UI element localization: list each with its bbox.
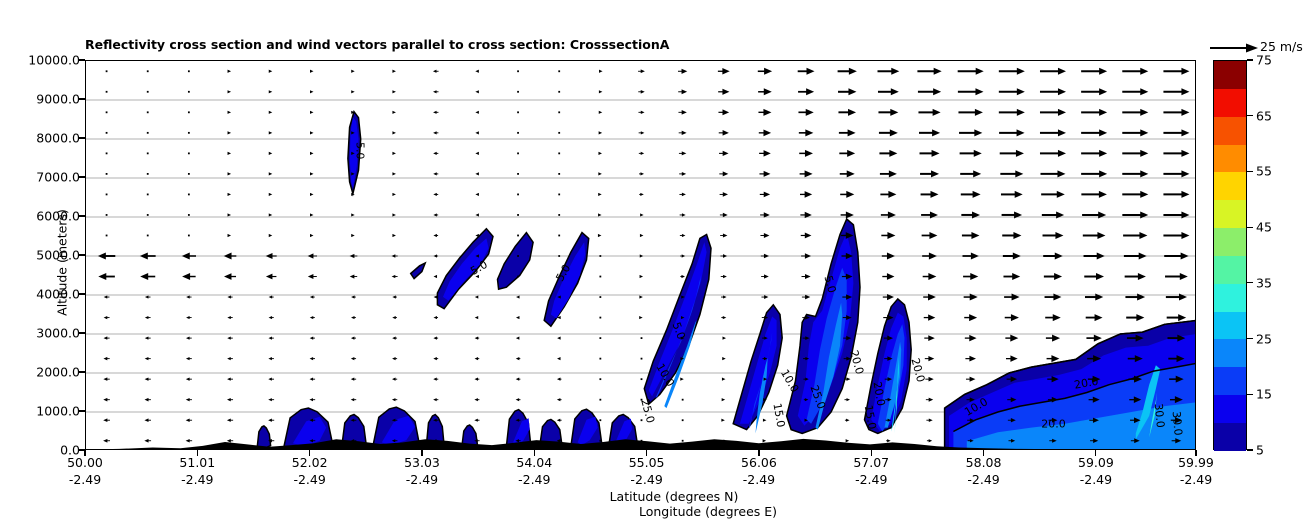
- wind-vector-arrow: [759, 150, 771, 156]
- wind-vector-arrow: [475, 316, 479, 319]
- wind-vector-arrow: [228, 213, 232, 216]
- wind-vector-arrow: [721, 316, 726, 319]
- wind-vector-arrow: [351, 70, 355, 73]
- wind-vector-arrow: [433, 111, 438, 114]
- wind-vector-arrow: [558, 132, 560, 134]
- wind-vector-arrow: [958, 88, 984, 95]
- wind-vector-arrow: [145, 357, 151, 360]
- y-tick-mark: [79, 137, 85, 138]
- wind-vector-arrow: [351, 316, 356, 319]
- wind-vector-arrow: [1003, 253, 1021, 260]
- wind-vector-arrow: [147, 132, 149, 134]
- field-polygon: [498, 233, 534, 290]
- wind-vector-arrow: [517, 173, 519, 175]
- wind-vector-arrow: [517, 111, 519, 113]
- wind-vector-arrow: [517, 214, 519, 216]
- wind-vector-arrow: [516, 337, 520, 340]
- wind-vector-arrow: [228, 172, 232, 175]
- wind-vector-arrow: [188, 111, 190, 113]
- wind-vector-arrow: [557, 398, 562, 401]
- wind-vector-arrow: [147, 152, 149, 154]
- colorbar-tick-label: 25: [1256, 331, 1272, 346]
- wind-vector-arrow: [1046, 335, 1060, 342]
- wind-vector-arrow: [598, 193, 602, 196]
- wind-vector-arrow: [1122, 68, 1148, 75]
- wind-vector-arrow: [761, 295, 768, 299]
- wind-vector-arrow: [227, 295, 232, 298]
- wind-vector-arrow: [98, 253, 115, 260]
- wind-vector-arrow: [679, 172, 686, 176]
- wind-vector-arrow: [1003, 273, 1020, 280]
- wind-vector-arrow: [106, 132, 108, 134]
- wind-vector-arrow: [106, 194, 108, 196]
- wind-vector-arrow: [1081, 68, 1107, 75]
- wind-vector-arrow: [188, 173, 190, 175]
- wind-vector-arrow: [1086, 335, 1101, 342]
- wind-vector-arrow: [351, 398, 357, 401]
- wind-vector-arrow: [188, 194, 190, 196]
- wind-vector-arrow: [182, 253, 196, 260]
- wind-vector-arrow: [186, 357, 192, 360]
- wind-vector-arrow: [310, 152, 314, 155]
- wind-vector-arrow: [924, 314, 936, 320]
- x-tick-label: 54.04 -2.49: [516, 455, 552, 488]
- wind-vector-arrow: [599, 276, 601, 278]
- wind-vector-arrow: [1163, 150, 1189, 157]
- wind-vector-arrow: [1043, 232, 1064, 239]
- wind-vector-arrow: [878, 88, 899, 95]
- wind-vector-arrow: [392, 234, 396, 237]
- wind-vector-arrow: [558, 276, 560, 278]
- wind-vector-arrow: [475, 337, 480, 340]
- wind-vector-arrow: [880, 170, 897, 177]
- wind-vector-arrow: [641, 378, 643, 380]
- wind-vector-arrow: [719, 151, 729, 156]
- wind-vector-arrow: [599, 255, 601, 257]
- wind-vector-arrow: [228, 193, 232, 196]
- wind-vector-arrow: [1125, 273, 1146, 280]
- wind-vector-arrow: [1167, 314, 1186, 321]
- y-tick-label: 8000.0: [36, 131, 80, 146]
- wind-vector-arrow: [838, 109, 856, 116]
- wind-vector-arrow: [433, 316, 438, 319]
- wind-vector-arrow: [718, 68, 730, 75]
- x-tick-mark: [1195, 450, 1196, 456]
- wind-vector-arrow: [1040, 129, 1066, 136]
- wind-vector-arrow: [959, 129, 982, 136]
- wind-vector-arrow: [759, 129, 771, 136]
- wind-vector-arrow: [599, 419, 601, 421]
- wind-vector-arrow: [839, 150, 855, 157]
- wind-vector-arrow: [475, 152, 479, 155]
- wind-vector-arrow: [517, 194, 519, 196]
- wind-vector-arrow: [98, 273, 115, 280]
- wind-vector-arrow: [310, 316, 315, 319]
- contour-label: 30.0: [1170, 411, 1185, 437]
- wind-vector-arrow: [392, 152, 396, 155]
- colorbar-band: [1214, 256, 1246, 284]
- colorbar-tick-mark: [1247, 227, 1253, 228]
- wind-vector-arrow: [145, 295, 151, 298]
- colorbar-band: [1214, 423, 1246, 451]
- wind-vector-arrow: [106, 235, 108, 237]
- wind-vector-arrow: [639, 131, 645, 134]
- wind-vector-arrow: [310, 337, 315, 340]
- wind-vector-arrow: [147, 194, 149, 196]
- wind-vector-arrow: [640, 275, 644, 278]
- wind-vector-arrow: [963, 253, 979, 260]
- wind-vector-arrow: [517, 152, 519, 154]
- cross-section-plot: 5.05.05.05.05.010.010.010.025.025.020.02…: [85, 60, 1196, 450]
- chart-figure: Reflectivity cross section and wind vect…: [0, 0, 1304, 526]
- wind-vector-arrow: [1005, 335, 1018, 342]
- wind-vector-arrow: [1122, 109, 1148, 116]
- wind-vector-arrow: [558, 235, 560, 237]
- plot-canvas: 5.05.05.05.05.010.010.010.025.025.020.02…: [86, 61, 1196, 450]
- wind-vector-arrow: [310, 193, 314, 196]
- colorbar-band: [1214, 172, 1246, 200]
- contour-label: 30.0: [1152, 403, 1167, 429]
- wind-vector-arrow: [558, 70, 560, 72]
- y-tick-mark: [79, 410, 85, 411]
- wind-vector-arrow: [1126, 314, 1144, 321]
- wind-vector-arrow: [722, 378, 726, 381]
- wind-vector-arrow: [188, 214, 190, 216]
- wind-vector-arrow: [1122, 191, 1148, 198]
- wind-vector-arrow: [723, 440, 725, 442]
- wind-vector-arrow: [919, 129, 940, 136]
- wind-vector-arrow: [1081, 191, 1107, 198]
- colorbar-tick-label: 5: [1256, 443, 1264, 458]
- x-tick-label: 55.05 -2.49: [629, 455, 665, 488]
- wind-vector-arrow: [1124, 253, 1147, 260]
- y-tick-mark: [79, 332, 85, 333]
- wind-vector-arrow: [678, 69, 687, 74]
- wind-vector-arrow: [918, 109, 940, 116]
- wind-vector-arrow: [188, 70, 190, 72]
- wind-vector-arrow: [106, 214, 108, 216]
- wind-vector-arrow: [1001, 191, 1023, 198]
- colorbar-band: [1214, 145, 1246, 173]
- wind-vector-arrow: [269, 131, 273, 134]
- wind-vector-arrow: [927, 439, 932, 442]
- wind-vector-arrow: [878, 109, 898, 116]
- wind-vector-arrow: [678, 89, 687, 94]
- wind-vector-arrow: [392, 398, 397, 401]
- wind-vector-arrow: [1163, 68, 1189, 75]
- x-axis-label-longitude: Longitude (degrees E): [56, 504, 1304, 519]
- wind-vector-arrow: [350, 274, 357, 278]
- wind-vector-arrow: [1163, 170, 1189, 177]
- x-axis-label-latitude: Latitude (degrees N): [22, 489, 1304, 504]
- wind-vector-arrow: [517, 70, 519, 72]
- wind-vector-arrow: [840, 170, 855, 177]
- wind-vector-arrow: [351, 357, 356, 360]
- colorbar-band: [1214, 117, 1246, 145]
- wind-vector-arrow: [188, 152, 190, 154]
- wind-vector-arrow: [1122, 88, 1148, 95]
- wind-vector-arrow: [433, 398, 438, 401]
- wind-vector-arrow: [268, 378, 274, 381]
- wind-vector-arrow: [965, 335, 977, 341]
- wind-vector-arrow: [1006, 355, 1018, 361]
- x-tick-mark: [197, 450, 198, 456]
- wind-vector-arrow: [517, 276, 519, 278]
- wind-vector-arrow: [720, 192, 728, 197]
- wind-vector-arrow: [186, 337, 192, 340]
- wind-vector-arrow: [921, 191, 939, 198]
- wind-vector-arrow: [1165, 273, 1188, 280]
- wind-vector-arrow: [800, 191, 812, 198]
- wind-vector-arrow: [599, 337, 601, 339]
- x-tick-mark: [1095, 450, 1096, 456]
- wind-vector-arrow: [186, 316, 192, 319]
- wind-vector-arrow: [228, 234, 232, 237]
- x-tick-mark: [534, 450, 535, 456]
- wind-vector-arrow: [599, 131, 603, 134]
- wind-vector-arrow: [269, 316, 274, 319]
- wind-vector-arrow: [475, 131, 479, 134]
- wind-vector-arrow: [999, 88, 1025, 95]
- wind-vector-arrow: [1047, 355, 1060, 362]
- wind-vector-arrow: [801, 233, 812, 239]
- wind-vector-arrow: [224, 253, 237, 260]
- wind-vector-arrow: [147, 70, 149, 72]
- wind-vector-arrow: [840, 191, 854, 198]
- wind-vector-arrow: [759, 171, 770, 177]
- wind-vector-arrow: [558, 255, 560, 257]
- wind-vector-arrow: [882, 273, 894, 280]
- wind-vector-arrow: [517, 132, 519, 134]
- wind-vector-arrow: [680, 378, 684, 381]
- wind-vector-arrow: [1040, 109, 1066, 116]
- wind-vector-arrow: [1041, 191, 1065, 198]
- wind-vector-arrow: [1122, 150, 1148, 157]
- wind-vector-arrow: [145, 316, 151, 319]
- x-tick-label: 51.01 -2.49: [179, 455, 215, 488]
- wind-vector-arrow: [922, 253, 937, 260]
- wind-vector-arrow: [641, 440, 643, 442]
- wind-vector-arrow: [598, 213, 602, 216]
- wind-vector-arrow: [598, 152, 602, 155]
- title-line-1: Reflectivity cross section and wind vect…: [85, 37, 669, 52]
- wind-vector-arrow: [392, 131, 396, 134]
- colorbar-band: [1214, 284, 1246, 312]
- wind-vector-arrow: [558, 214, 560, 216]
- wind-vector-arrow: [516, 295, 520, 298]
- wind-vector-arrow: [557, 357, 561, 360]
- wind-vector-arrow: [880, 191, 896, 198]
- wind-vector-arrow: [103, 377, 109, 381]
- wind-vector-arrow: [475, 172, 479, 175]
- y-tick-mark: [79, 176, 85, 177]
- wind-vector-arrow: [599, 90, 603, 93]
- wind-vector-arrow: [1086, 314, 1103, 321]
- colorbar-tick-mark: [1247, 449, 1253, 450]
- wind-vector-arrow: [517, 255, 519, 257]
- y-tick-mark: [79, 371, 85, 372]
- wind-vector-arrow: [433, 213, 438, 216]
- wind-vector-arrow: [310, 111, 314, 114]
- wind-vector-arrow: [392, 275, 398, 278]
- wind-vector-arrow: [186, 418, 192, 422]
- wind-vector-arrow: [557, 419, 562, 422]
- wind-vector-arrow: [227, 398, 233, 401]
- wind-vector-arrow: [758, 109, 771, 116]
- wind-vector-arrow: [474, 378, 479, 381]
- wind-vector-arrow: [878, 68, 900, 75]
- wind-vector-arrow: [838, 68, 857, 75]
- wind-vector-arrow: [1164, 253, 1188, 260]
- wind-vector-arrow: [392, 111, 396, 114]
- wind-vector-arrow: [103, 439, 110, 443]
- wind-vector-arrow: [433, 378, 438, 381]
- wind-vector-arrow: [558, 194, 560, 196]
- wind-vector-arrow: [269, 234, 273, 237]
- wind-vector-arrow: [1163, 88, 1189, 95]
- y-tick-label: 9000.0: [36, 92, 80, 107]
- wind-vector-arrow: [1005, 314, 1019, 321]
- wind-vector-arrow: [433, 90, 438, 93]
- wind-vector-arrow: [925, 356, 934, 361]
- wind-vector-arrow: [475, 70, 479, 73]
- wind-vector-arrow: [310, 70, 314, 73]
- wind-vector-arrow: [392, 90, 396, 93]
- wind-vector-arrow: [145, 377, 151, 380]
- wind-vector-arrow: [1163, 129, 1189, 136]
- wind-vector-arrow: [433, 193, 438, 196]
- wind-vector-arrow: [682, 419, 684, 421]
- wind-vector-arrow: [268, 357, 274, 360]
- wind-vector-arrow: [639, 193, 644, 196]
- wind-vector-arrow: [1044, 273, 1062, 280]
- wind-vector-arrow: [641, 419, 643, 421]
- wind-vector-arrow: [433, 70, 439, 73]
- colorbar: [1213, 60, 1247, 450]
- wind-vector-arrow: [433, 172, 438, 175]
- wind-vector-arrow: [798, 109, 813, 116]
- wind-vector-arrow: [103, 398, 110, 402]
- wind-vector-arrow: [103, 418, 110, 422]
- colorbar-tick-label: 65: [1256, 108, 1272, 123]
- wind-vector-arrow: [719, 130, 729, 136]
- wind-vector-arrow: [310, 172, 314, 175]
- wind-vector-arrow: [516, 316, 520, 319]
- wind-vector-arrow: [147, 214, 149, 216]
- wind-vector-arrow: [186, 439, 193, 443]
- wind-vector-arrow: [268, 398, 274, 401]
- wind-vector-arrow: [475, 234, 479, 237]
- wind-vector-arrow: [558, 152, 560, 154]
- y-tick-label: 10000.0: [28, 53, 80, 68]
- wind-vector-arrow: [879, 150, 897, 157]
- wind-vector-arrow: [960, 150, 982, 157]
- wind-vector-arrow: [228, 111, 232, 114]
- wind-vector-arrow: [475, 295, 479, 298]
- wind-vector-arrow: [474, 398, 479, 401]
- wind-vector-arrow: [845, 419, 850, 422]
- y-tick-mark: [79, 59, 85, 60]
- wind-vector-arrow: [1081, 88, 1107, 95]
- contour-label: 5.0: [353, 142, 366, 160]
- x-tick-label: 56.06 -2.49: [741, 455, 777, 488]
- wind-vector-arrow: [641, 399, 643, 401]
- wind-vector-arrow: [1002, 232, 1021, 239]
- wind-vector-arrow: [475, 213, 479, 216]
- wind-vector-arrow: [958, 109, 982, 116]
- wind-vector-arrow: [599, 70, 603, 73]
- wind-vector-arrow: [923, 273, 937, 280]
- wind-vector-arrow: [392, 70, 396, 73]
- wind-vector-arrow: [1081, 129, 1107, 136]
- wind-vector-arrow: [680, 254, 685, 257]
- wind-vector-arrow: [106, 173, 108, 175]
- wind-vector-arrow: [269, 172, 273, 175]
- wind-vector-arrow: [186, 398, 192, 401]
- wind-vector-arrow: [723, 337, 727, 340]
- wind-vector-arrow: [392, 378, 397, 381]
- wind-vector-arrow: [917, 68, 941, 75]
- wind-vector-arrow: [1081, 170, 1107, 177]
- field-polygon: [411, 263, 426, 279]
- wind-vector-arrow: [224, 273, 236, 280]
- wind-vector-arrow: [958, 68, 984, 75]
- colorbar-band: [1214, 312, 1246, 340]
- contour-label: 20.0: [847, 349, 866, 376]
- wind-vector-arrow: [310, 90, 314, 93]
- colorbar-tick-label: 35: [1256, 275, 1272, 290]
- wind-vector-arrow: [350, 254, 358, 258]
- field-polygon: [551, 242, 585, 318]
- wind-vector-arrow: [720, 213, 728, 217]
- wind-vector-arrow: [1081, 150, 1107, 157]
- x-tick-mark: [758, 450, 759, 456]
- wind-vector-arrow: [999, 68, 1025, 75]
- wind-vector-arrow: [104, 336, 110, 339]
- wind-vector-arrow: [433, 234, 438, 237]
- wind-vector-arrow: [268, 419, 274, 422]
- y-tick-mark: [79, 293, 85, 294]
- wind-vector-arrow: [188, 91, 190, 93]
- wind-vector-arrow: [763, 419, 767, 422]
- wind-vector-arrow: [844, 398, 849, 401]
- wind-vector-arrow: [599, 111, 603, 114]
- wind-vector-arrow: [1045, 314, 1061, 321]
- wind-vector-arrow: [1000, 150, 1024, 157]
- wind-vector-arrow: [839, 129, 856, 136]
- wind-vector-arrow: [309, 398, 315, 401]
- wind-vector-arrow: [433, 357, 438, 360]
- colorbar-band: [1214, 367, 1246, 395]
- x-tick-label: 53.03 -2.49: [404, 455, 440, 488]
- wind-vector-arrow: [722, 357, 726, 360]
- wind-vector-arrow: [1040, 170, 1065, 177]
- wind-vector-arrow: [145, 398, 151, 402]
- wind-vector-arrow: [106, 91, 108, 93]
- wind-vector-arrow: [558, 91, 560, 93]
- wind-vector-arrow: [188, 235, 190, 237]
- wind-vector-arrow: [269, 295, 274, 298]
- x-tick-label: 58.08 -2.49: [966, 455, 1002, 488]
- y-tick-mark: [79, 215, 85, 216]
- wind-vector-arrow: [760, 233, 769, 238]
- wind-vector-arrow: [999, 129, 1024, 136]
- wind-vector-arrow: [104, 295, 110, 298]
- wind-vector-arrow: [103, 357, 109, 360]
- wind-vector-arrow: [268, 337, 273, 340]
- wind-vector-arrow: [351, 213, 355, 216]
- wind-vector-arrow: [639, 172, 644, 175]
